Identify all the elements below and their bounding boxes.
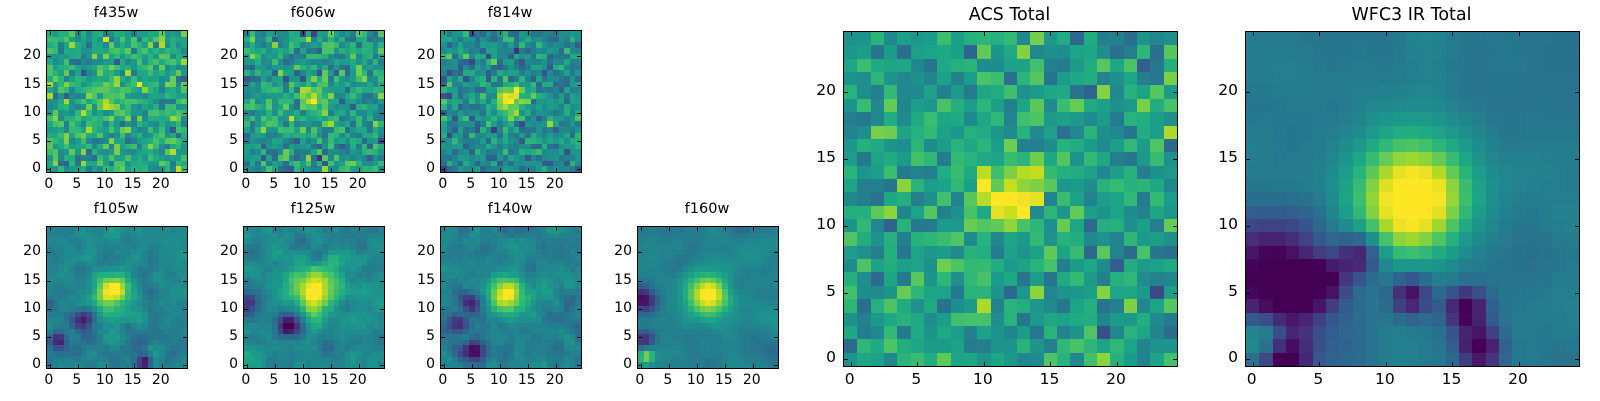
x-tick bbox=[134, 364, 135, 368]
y-tick-right bbox=[183, 85, 187, 86]
image-axes-acs_total bbox=[843, 31, 1178, 367]
x-tick-label: 15 bbox=[1433, 372, 1469, 388]
y-tick-right bbox=[1575, 359, 1579, 360]
y-tick-label: 0 bbox=[208, 357, 238, 371]
y-tick-right bbox=[380, 365, 384, 366]
x-tick-label: 15 bbox=[512, 373, 542, 387]
x-tick-top bbox=[500, 31, 501, 35]
y-tick bbox=[47, 252, 51, 253]
x-tick-top bbox=[1386, 32, 1387, 36]
y-tick-label: 20 bbox=[11, 244, 41, 258]
heatmap-f140w bbox=[441, 227, 581, 368]
x-tick-top bbox=[50, 31, 51, 35]
x-tick-top bbox=[134, 31, 135, 35]
y-tick bbox=[244, 169, 248, 170]
x-tick bbox=[697, 364, 698, 368]
y-tick bbox=[1246, 159, 1250, 160]
heatmap-f105w bbox=[47, 227, 187, 368]
y-tick-right bbox=[380, 56, 384, 57]
y-tick-label: 10 bbox=[11, 105, 41, 119]
x-tick bbox=[331, 168, 332, 172]
x-tick bbox=[851, 362, 852, 366]
y-tick-label: 5 bbox=[405, 329, 435, 343]
y-tick-label: 5 bbox=[208, 329, 238, 343]
x-tick-label: 0 bbox=[34, 177, 64, 191]
x-tick-label: 0 bbox=[231, 177, 261, 191]
y-tick-label: 15 bbox=[208, 273, 238, 287]
panel-title: f435w bbox=[46, 6, 186, 21]
y-tick-label: 5 bbox=[1202, 284, 1238, 300]
x-tick-top bbox=[1253, 32, 1254, 36]
x-tick-label: 10 bbox=[90, 373, 120, 387]
y-tick-right bbox=[380, 141, 384, 142]
panel-acs_total: ACS Total0510152005101520 bbox=[783, 3, 1236, 397]
y-tick bbox=[441, 309, 445, 310]
x-tick bbox=[500, 364, 501, 368]
y-tick bbox=[244, 365, 248, 366]
y-tick-right bbox=[380, 169, 384, 170]
x-tick-top bbox=[1050, 32, 1051, 36]
x-tick-top bbox=[303, 31, 304, 35]
panel-title: f105w bbox=[46, 202, 186, 217]
y-tick-right bbox=[774, 281, 778, 282]
image-axes-f435w bbox=[46, 30, 188, 173]
x-tick bbox=[162, 168, 163, 172]
y-tick-right bbox=[1575, 159, 1579, 160]
heatmap-f814w bbox=[441, 31, 581, 172]
x-tick-top bbox=[50, 227, 51, 231]
x-tick-top bbox=[303, 227, 304, 231]
x-tick-label: 20 bbox=[737, 373, 767, 387]
y-tick bbox=[47, 337, 51, 338]
y-tick bbox=[638, 365, 642, 366]
x-tick-label: 10 bbox=[287, 177, 317, 191]
x-tick-label: 15 bbox=[1031, 372, 1067, 388]
x-tick bbox=[162, 364, 163, 368]
x-tick-label: 15 bbox=[315, 373, 345, 387]
x-tick-label: 5 bbox=[1300, 372, 1336, 388]
y-tick bbox=[441, 141, 445, 142]
x-tick-top bbox=[359, 31, 360, 35]
x-tick-top bbox=[528, 227, 529, 231]
y-tick-right bbox=[577, 281, 581, 282]
image-axes-f105w bbox=[46, 226, 188, 369]
x-tick-top bbox=[669, 227, 670, 231]
y-tick bbox=[441, 113, 445, 114]
x-tick-top bbox=[984, 32, 985, 36]
y-tick bbox=[244, 281, 248, 282]
y-tick bbox=[638, 281, 642, 282]
x-tick-label: 10 bbox=[484, 177, 514, 191]
y-tick-right bbox=[577, 169, 581, 170]
y-tick bbox=[441, 252, 445, 253]
heatmap-f125w bbox=[244, 227, 384, 368]
y-tick bbox=[244, 141, 248, 142]
x-tick bbox=[1117, 362, 1118, 366]
y-tick-label: 20 bbox=[1202, 83, 1238, 99]
y-tick-right bbox=[183, 141, 187, 142]
y-tick-right bbox=[380, 337, 384, 338]
x-tick bbox=[359, 364, 360, 368]
y-tick bbox=[244, 337, 248, 338]
y-tick bbox=[244, 113, 248, 114]
x-tick bbox=[472, 364, 473, 368]
y-tick-label: 15 bbox=[800, 150, 836, 166]
x-tick-label: 10 bbox=[1367, 372, 1403, 388]
y-tick-right bbox=[380, 281, 384, 282]
y-tick bbox=[844, 92, 848, 93]
y-tick-label: 20 bbox=[208, 244, 238, 258]
y-tick-right bbox=[1575, 92, 1579, 93]
x-tick bbox=[472, 168, 473, 172]
y-tick-label: 15 bbox=[405, 273, 435, 287]
y-tick bbox=[441, 56, 445, 57]
y-tick-right bbox=[1173, 359, 1177, 360]
y-tick-right bbox=[183, 281, 187, 282]
image-axes-f814w bbox=[440, 30, 582, 173]
y-tick-label: 15 bbox=[11, 273, 41, 287]
y-tick-label: 20 bbox=[405, 48, 435, 62]
x-tick-top bbox=[106, 227, 107, 231]
x-tick-label: 5 bbox=[259, 177, 289, 191]
y-tick-right bbox=[380, 309, 384, 310]
x-tick-label: 15 bbox=[709, 373, 739, 387]
y-tick bbox=[47, 85, 51, 86]
y-tick-label: 10 bbox=[602, 301, 632, 315]
x-tick-label: 5 bbox=[259, 373, 289, 387]
y-tick-label: 5 bbox=[405, 133, 435, 147]
x-tick-label: 0 bbox=[34, 373, 64, 387]
y-tick-label: 0 bbox=[405, 357, 435, 371]
y-tick bbox=[244, 56, 248, 57]
y-tick-label: 0 bbox=[602, 357, 632, 371]
y-tick bbox=[1246, 293, 1250, 294]
image-axes-f140w bbox=[440, 226, 582, 369]
x-tick-top bbox=[78, 31, 79, 35]
x-tick-label: 20 bbox=[343, 177, 373, 191]
x-tick-top bbox=[247, 227, 248, 231]
x-tick bbox=[500, 168, 501, 172]
y-tick bbox=[1246, 226, 1250, 227]
x-tick-top bbox=[500, 227, 501, 231]
x-tick-top bbox=[444, 31, 445, 35]
x-tick-label: 5 bbox=[653, 373, 683, 387]
x-tick-label: 15 bbox=[315, 177, 345, 191]
y-tick bbox=[244, 252, 248, 253]
x-tick-label: 10 bbox=[90, 177, 120, 191]
panel-title: f160w bbox=[637, 202, 777, 217]
y-tick bbox=[1246, 92, 1250, 93]
y-tick-label: 15 bbox=[405, 77, 435, 91]
x-tick-label: 5 bbox=[456, 373, 486, 387]
x-tick-top bbox=[106, 31, 107, 35]
y-tick-label: 0 bbox=[11, 161, 41, 175]
y-tick bbox=[244, 85, 248, 86]
y-tick-label: 15 bbox=[208, 77, 238, 91]
y-tick-label: 10 bbox=[800, 217, 836, 233]
x-tick-label: 0 bbox=[625, 373, 655, 387]
x-tick-label: 10 bbox=[681, 373, 711, 387]
x-tick bbox=[669, 364, 670, 368]
y-tick-label: 10 bbox=[208, 105, 238, 119]
y-tick bbox=[244, 309, 248, 310]
y-tick-label: 20 bbox=[11, 48, 41, 62]
y-tick-right bbox=[183, 113, 187, 114]
y-tick-label: 20 bbox=[208, 48, 238, 62]
y-tick-right bbox=[774, 309, 778, 310]
y-tick-label: 10 bbox=[208, 301, 238, 315]
panel-title: f125w bbox=[243, 202, 383, 217]
x-tick bbox=[556, 364, 557, 368]
x-tick-label: 20 bbox=[1098, 372, 1134, 388]
x-tick-top bbox=[1519, 32, 1520, 36]
y-tick-label: 10 bbox=[405, 105, 435, 119]
y-tick-right bbox=[1173, 92, 1177, 93]
y-tick bbox=[441, 337, 445, 338]
x-tick bbox=[331, 364, 332, 368]
x-tick-label: 5 bbox=[898, 372, 934, 388]
x-tick bbox=[106, 168, 107, 172]
y-tick bbox=[47, 365, 51, 366]
x-tick-label: 0 bbox=[1234, 372, 1270, 388]
x-tick bbox=[917, 362, 918, 366]
y-tick bbox=[638, 252, 642, 253]
y-tick-label: 5 bbox=[602, 329, 632, 343]
panel-title: f814w bbox=[440, 6, 580, 21]
y-tick bbox=[47, 309, 51, 310]
y-tick-label: 5 bbox=[11, 133, 41, 147]
y-tick-label: 10 bbox=[11, 301, 41, 315]
x-tick bbox=[725, 364, 726, 368]
x-tick bbox=[556, 168, 557, 172]
x-tick-label: 15 bbox=[118, 373, 148, 387]
y-tick-label: 20 bbox=[602, 244, 632, 258]
x-tick-top bbox=[275, 227, 276, 231]
y-tick bbox=[47, 169, 51, 170]
heatmap-f435w bbox=[47, 31, 187, 172]
y-tick-right bbox=[774, 337, 778, 338]
x-tick bbox=[1452, 362, 1453, 366]
y-tick-right bbox=[380, 85, 384, 86]
y-tick bbox=[844, 359, 848, 360]
x-tick-label: 20 bbox=[540, 373, 570, 387]
y-tick-right bbox=[577, 56, 581, 57]
y-tick bbox=[638, 309, 642, 310]
x-tick-top bbox=[162, 31, 163, 35]
x-tick-top bbox=[528, 31, 529, 35]
y-tick-right bbox=[577, 309, 581, 310]
y-tick-right bbox=[577, 113, 581, 114]
x-tick-label: 20 bbox=[343, 373, 373, 387]
x-tick-top bbox=[641, 227, 642, 231]
x-tick-label: 10 bbox=[287, 373, 317, 387]
x-tick-top bbox=[472, 227, 473, 231]
y-tick-right bbox=[577, 85, 581, 86]
x-tick bbox=[78, 168, 79, 172]
y-tick bbox=[1246, 359, 1250, 360]
x-tick-top bbox=[331, 31, 332, 35]
y-tick-label: 15 bbox=[602, 273, 632, 287]
x-tick-top bbox=[1452, 32, 1453, 36]
y-tick bbox=[47, 113, 51, 114]
x-tick-top bbox=[725, 227, 726, 231]
x-tick-label: 5 bbox=[62, 373, 92, 387]
y-tick-right bbox=[1173, 226, 1177, 227]
y-tick-right bbox=[380, 113, 384, 114]
x-tick-top bbox=[556, 31, 557, 35]
y-tick-label: 0 bbox=[208, 161, 238, 175]
y-tick-label: 5 bbox=[800, 284, 836, 300]
x-tick-label: 15 bbox=[512, 177, 542, 191]
y-tick-label: 10 bbox=[405, 301, 435, 315]
x-tick-label: 0 bbox=[428, 373, 458, 387]
y-tick-right bbox=[577, 337, 581, 338]
image-axes-f125w bbox=[243, 226, 385, 369]
x-tick-label: 20 bbox=[146, 177, 176, 191]
x-tick bbox=[1050, 362, 1051, 366]
x-tick-top bbox=[78, 227, 79, 231]
x-tick-label: 0 bbox=[832, 372, 868, 388]
x-tick-label: 20 bbox=[146, 373, 176, 387]
y-tick-right bbox=[1575, 226, 1579, 227]
x-tick-top bbox=[753, 227, 754, 231]
y-tick-right bbox=[577, 365, 581, 366]
x-tick-top bbox=[472, 31, 473, 35]
y-tick-right bbox=[577, 141, 581, 142]
x-tick bbox=[303, 168, 304, 172]
y-tick bbox=[844, 293, 848, 294]
x-tick bbox=[528, 168, 529, 172]
y-tick bbox=[441, 169, 445, 170]
y-tick-right bbox=[774, 365, 778, 366]
x-tick-label: 10 bbox=[965, 372, 1001, 388]
image-axes-f160w bbox=[637, 226, 779, 369]
heatmap-wfc3_ir_total bbox=[1246, 32, 1579, 366]
x-tick-label: 5 bbox=[456, 177, 486, 191]
x-tick-label: 20 bbox=[540, 177, 570, 191]
x-tick-top bbox=[556, 227, 557, 231]
y-tick-right bbox=[183, 252, 187, 253]
x-tick bbox=[134, 168, 135, 172]
y-tick bbox=[844, 159, 848, 160]
x-tick-label: 0 bbox=[428, 177, 458, 191]
x-tick-top bbox=[275, 31, 276, 35]
x-tick bbox=[528, 364, 529, 368]
y-tick bbox=[441, 281, 445, 282]
y-tick-right bbox=[380, 252, 384, 253]
panel-title: f140w bbox=[440, 202, 580, 217]
y-tick-label: 5 bbox=[11, 329, 41, 343]
x-tick bbox=[753, 364, 754, 368]
y-tick bbox=[441, 365, 445, 366]
y-tick-label: 0 bbox=[1202, 350, 1238, 366]
y-tick-right bbox=[183, 365, 187, 366]
x-tick-top bbox=[1117, 32, 1118, 36]
y-tick-label: 0 bbox=[11, 357, 41, 371]
y-tick-label: 15 bbox=[1202, 150, 1238, 166]
image-axes-f606w bbox=[243, 30, 385, 173]
heatmap-f160w bbox=[638, 227, 778, 368]
y-tick-right bbox=[577, 252, 581, 253]
multiband-cutout-figure: f435w0510152005101520f606w05101520051015… bbox=[0, 0, 1600, 400]
x-tick-top bbox=[134, 227, 135, 231]
x-tick-top bbox=[162, 227, 163, 231]
y-tick-label: 10 bbox=[1202, 217, 1238, 233]
heatmap-f606w bbox=[244, 31, 384, 172]
x-tick-label: 0 bbox=[231, 373, 261, 387]
x-tick bbox=[275, 168, 276, 172]
x-tick bbox=[1253, 362, 1254, 366]
panel-title: f606w bbox=[243, 6, 383, 21]
x-tick-label: 10 bbox=[484, 373, 514, 387]
x-tick bbox=[303, 364, 304, 368]
panel-title: ACS Total bbox=[843, 7, 1176, 25]
y-tick bbox=[47, 281, 51, 282]
x-tick bbox=[78, 364, 79, 368]
x-tick-top bbox=[247, 31, 248, 35]
y-tick-label: 20 bbox=[800, 83, 836, 99]
x-tick-top bbox=[851, 32, 852, 36]
y-tick bbox=[638, 337, 642, 338]
x-tick-label: 5 bbox=[62, 177, 92, 191]
heatmap-acs_total bbox=[844, 32, 1177, 366]
y-tick bbox=[47, 141, 51, 142]
x-tick-top bbox=[359, 227, 360, 231]
x-tick bbox=[106, 364, 107, 368]
x-tick bbox=[1386, 362, 1387, 366]
panel-f814w: f814w0510152005101520 bbox=[380, 4, 640, 205]
y-tick-right bbox=[183, 337, 187, 338]
y-tick bbox=[47, 56, 51, 57]
y-tick-right bbox=[1173, 293, 1177, 294]
x-tick bbox=[1519, 362, 1520, 366]
y-tick-right bbox=[774, 252, 778, 253]
x-tick-label: 15 bbox=[118, 177, 148, 191]
y-tick-right bbox=[183, 309, 187, 310]
x-tick bbox=[984, 362, 985, 366]
x-tick-top bbox=[331, 227, 332, 231]
x-tick bbox=[275, 364, 276, 368]
x-tick-top bbox=[1319, 32, 1320, 36]
x-tick bbox=[359, 168, 360, 172]
y-tick bbox=[844, 226, 848, 227]
y-tick-right bbox=[1575, 293, 1579, 294]
y-tick-label: 15 bbox=[11, 77, 41, 91]
y-tick-label: 0 bbox=[800, 350, 836, 366]
x-tick-label: 20 bbox=[1500, 372, 1536, 388]
x-tick-top bbox=[697, 227, 698, 231]
y-tick-right bbox=[183, 169, 187, 170]
x-tick-top bbox=[444, 227, 445, 231]
panel-title: WFC3 IR Total bbox=[1245, 7, 1578, 25]
y-tick-label: 5 bbox=[208, 133, 238, 147]
y-tick-right bbox=[1173, 159, 1177, 160]
y-tick-right bbox=[183, 56, 187, 57]
x-tick-top bbox=[917, 32, 918, 36]
y-tick bbox=[441, 85, 445, 86]
image-axes-wfc3_ir_total bbox=[1245, 31, 1580, 367]
panel-wfc3_ir_total: WFC3 IR Total0510152005101520 bbox=[1185, 3, 1600, 397]
y-tick-label: 0 bbox=[405, 161, 435, 175]
x-tick bbox=[1319, 362, 1320, 366]
y-tick-label: 20 bbox=[405, 244, 435, 258]
